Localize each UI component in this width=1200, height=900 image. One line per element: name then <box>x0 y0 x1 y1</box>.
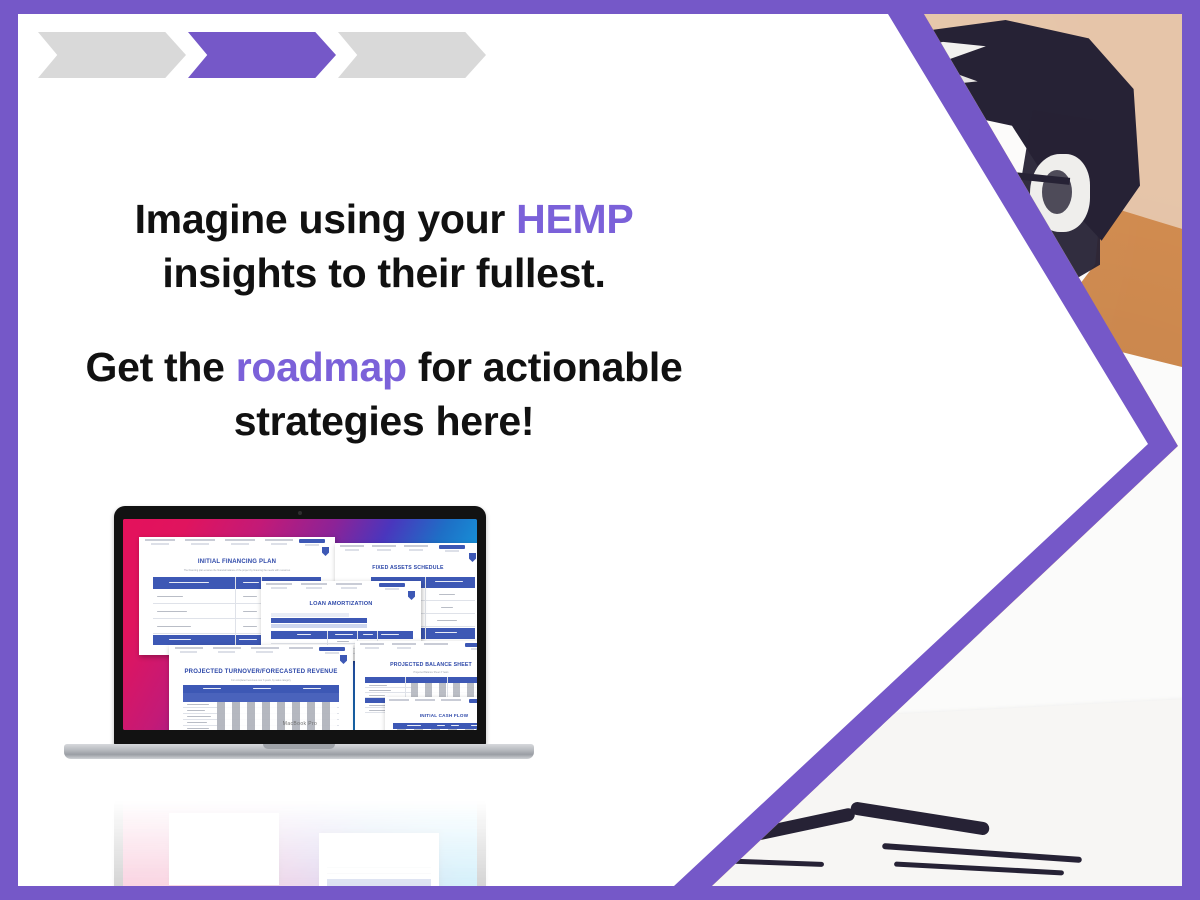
headline-accent-hemp: HEMP <box>516 196 633 242</box>
sheet-title: INITIAL FINANCING PLAN <box>139 559 335 565</box>
laptop-base <box>64 744 534 759</box>
ledger-right-page <box>746 14 897 167</box>
man-nose <box>836 227 865 298</box>
glasses-lens-left <box>833 182 911 253</box>
headline-line-3-prefix: Get the <box>85 344 235 390</box>
glasses-bridge <box>904 192 927 201</box>
sheet-toolbar <box>355 641 477 650</box>
man-jawline <box>894 303 1056 377</box>
laptop-reflection <box>64 800 534 886</box>
reflection-lid <box>114 795 486 886</box>
loan-input-panel <box>271 613 349 617</box>
headline-accent-roadmap: roadmap <box>236 344 407 390</box>
webcam-icon <box>298 511 302 515</box>
reflection-sheet-a <box>169 813 279 885</box>
man-finger-3 <box>732 681 828 697</box>
sheet-title: PROJECTED BALANCE SHEET <box>355 662 477 668</box>
headline-line-2: insights to their fullest. <box>54 246 714 300</box>
man-thumb <box>757 590 789 663</box>
sheet-number-grid <box>397 729 477 730</box>
keyboard-keys <box>497 564 790 763</box>
laptop-screen: INITIAL FINANCING PLAN The financing pla… <box>123 519 477 730</box>
sheet-toolbar <box>335 543 477 552</box>
laptop-notch <box>263 744 335 749</box>
reflection-sheet-b <box>319 833 439 886</box>
desk-paper-bottom <box>607 699 1182 886</box>
mug-rim <box>650 574 772 583</box>
sheet-table-subheader <box>183 693 339 702</box>
sheet-logo-shield-icon <box>340 655 347 664</box>
pen <box>618 716 716 839</box>
sheet-toolbar <box>261 581 421 590</box>
man-eye <box>868 206 890 218</box>
slide-frame: Imagine using your HEMP insights to thei… <box>0 0 1200 900</box>
man-mouth <box>866 304 928 317</box>
sheet-title: LOAN AMORTIZATION <box>261 601 421 607</box>
progress-step-2-active[interactable] <box>188 32 336 78</box>
open-ledger-book <box>568 14 861 217</box>
loan-input-row <box>271 624 367 628</box>
copy-spacer <box>54 300 714 340</box>
sheet-toolbar <box>139 537 335 546</box>
sheet-subtitle: For completed revenues over 3 years, by … <box>169 679 353 682</box>
headline-copy: Imagine using your HEMP insights to thei… <box>54 192 714 448</box>
progress-indicator <box>38 32 486 78</box>
coffee-mug <box>646 570 774 736</box>
laptop-model-label: MacBook Pro <box>123 721 477 727</box>
progress-step-3[interactable] <box>338 32 486 78</box>
man-finger-1 <box>722 613 828 637</box>
laptop-lid: INITIAL FINANCING PLAN The financing pla… <box>114 506 486 746</box>
headline-line-1: Imagine using your HEMP <box>54 192 714 246</box>
man-neck-shadow <box>938 300 1030 352</box>
headline-line-3-suffix: for actionable <box>407 344 683 390</box>
reflection-screen <box>123 799 477 886</box>
sheet-title: PROJECTED TURNOVER/FORECASTED REVENUE <box>169 669 353 675</box>
sheet-logo-shield-icon <box>408 591 415 600</box>
sheet-projected-turnover[interactable]: PROJECTED TURNOVER/FORECASTED REVENUE Fo… <box>169 645 353 730</box>
headline-line-4: strategies here! <box>54 394 714 448</box>
laptop-mockup: INITIAL FINANCING PLAN The financing pla… <box>64 506 534 806</box>
loan-input-highlight <box>271 618 367 623</box>
man-collar-right <box>987 302 1030 410</box>
sheet-subtitle: The financing plan ensures the financial… <box>139 569 335 572</box>
slide-inner-canvas: Imagine using your HEMP insights to thei… <box>18 14 1182 886</box>
crumpled-paper-2 <box>490 60 574 144</box>
man-neck <box>936 282 1046 392</box>
sheet-logo-shield-icon <box>469 553 476 562</box>
man-finger-2 <box>728 647 832 667</box>
sheet-subtitle: Projected Balance Sheet 3 Years <box>355 671 477 674</box>
sheet-logo-shield-icon <box>322 547 329 556</box>
man-collar-left <box>872 312 934 427</box>
headline-line-3: Get the roadmap for actionable <box>54 340 714 394</box>
man-nostril <box>850 280 887 294</box>
sheet-title: FIXED ASSETS SCHEDULE <box>335 565 477 571</box>
man-shirt-outline <box>775 353 838 652</box>
sheet-toolbar <box>169 645 353 654</box>
man-arm-outline <box>723 527 957 605</box>
man-beard-shade <box>860 314 1020 378</box>
progress-step-1[interactable] <box>38 32 186 78</box>
headline-line-1-prefix: Imagine using your <box>135 196 517 242</box>
sheet-toolbar <box>385 697 477 706</box>
sheet-title: INITIAL CASH FLOW <box>385 713 477 718</box>
